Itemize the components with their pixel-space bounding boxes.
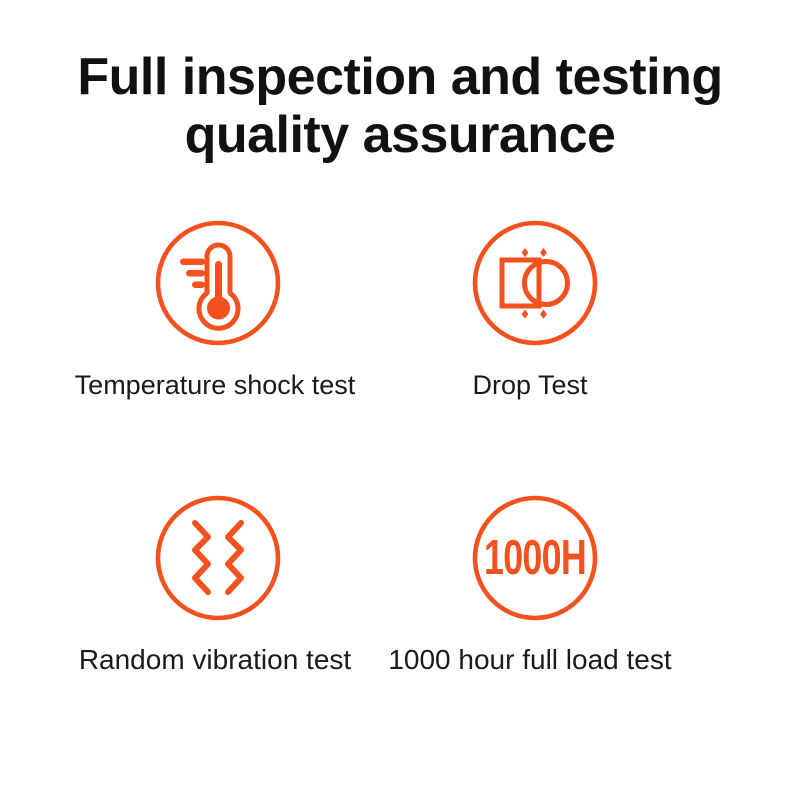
test-item-full-load-test[interactable]: 1000H 1000 hour full load test (330, 485, 730, 735)
hours-badge-icon: 1000H (472, 495, 598, 621)
page-title: Full inspection and testing quality assu… (0, 48, 800, 164)
test-item-label: Drop Test (330, 368, 730, 402)
quality-assurance-panel: Full inspection and testing quality assu… (0, 0, 800, 800)
hours-badge-text: 1000H (484, 531, 586, 585)
test-item-drop-test[interactable]: Drop Test (330, 210, 730, 460)
vibration-zigzag-icon (155, 495, 281, 621)
test-item-label: 1000 hour full load test (330, 643, 730, 677)
page-title-line-2: quality assurance (0, 106, 800, 164)
test-grid: Temperature shock test (0, 210, 800, 730)
drop-box-sparkle-icon (472, 220, 598, 346)
thermometer-heat-icon (155, 220, 281, 346)
page-title-line-1: Full inspection and testing (0, 48, 800, 106)
